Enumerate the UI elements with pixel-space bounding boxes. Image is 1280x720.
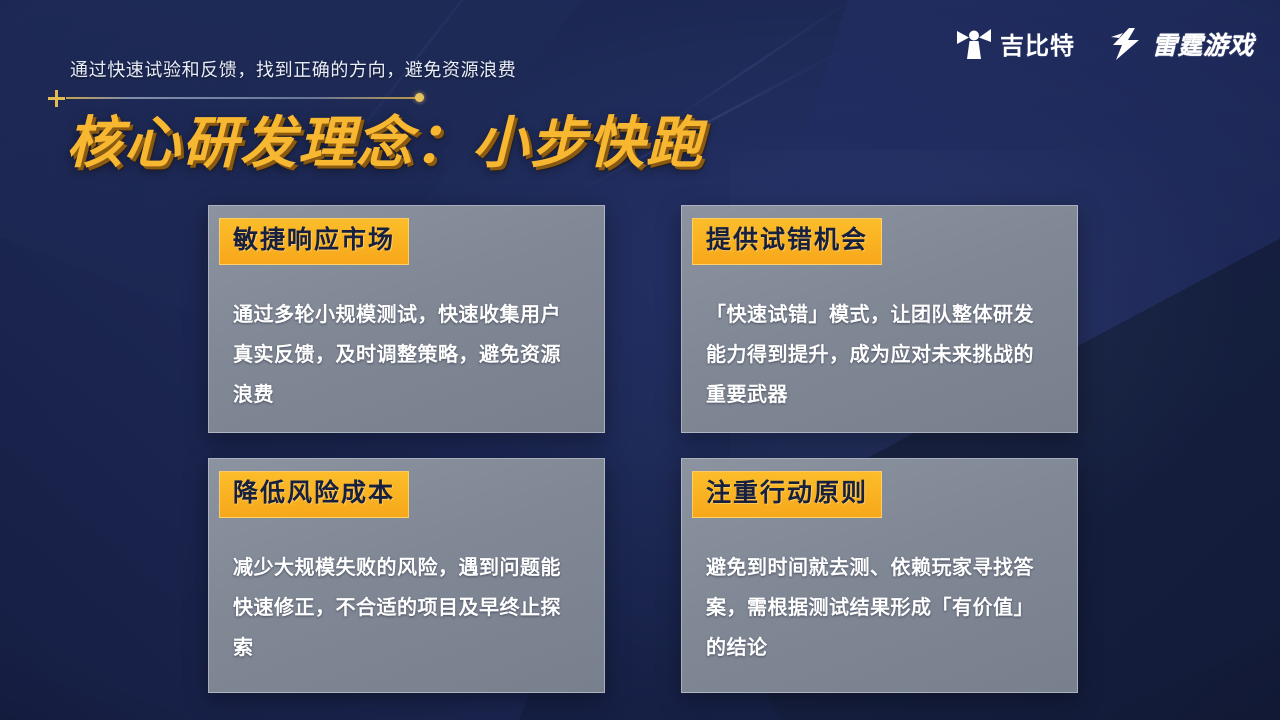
- card-body-text: 避免到时间就去测、依赖玩家寻找答案，需根据测试结果形成「有价值」的结论: [706, 548, 1053, 668]
- card-body-text: 通过多轮小规模测试，快速收集用户真实反馈，及时调整策略，避免资源浪费: [233, 295, 580, 415]
- card-body-text: 减少大规模失败的风险，遇到问题能快速修正，不合适的项目及早终止探索: [233, 548, 580, 668]
- slide-subtitle: 通过快速试验和反馈，找到正确的方向，避免资源浪费: [70, 56, 516, 82]
- card-action-principles: 注重行动原则 避免到时间就去测、依赖玩家寻找答案，需根据测试结果形成「有价值」的…: [681, 458, 1078, 693]
- logo-leiting: 雷霆游戏: [1109, 28, 1254, 65]
- card-heading: 注重行动原则: [692, 471, 882, 518]
- divider-line: [66, 97, 418, 99]
- card-heading: 降低风险成本: [219, 471, 409, 518]
- gibit-angel-icon: [957, 28, 991, 65]
- logo-gibit: 吉比特: [957, 28, 1075, 65]
- logo-gibit-label: 吉比特: [1000, 35, 1075, 59]
- plus-marker-icon: [48, 90, 65, 107]
- divider-end-dot-icon: [415, 93, 424, 102]
- slide-root: 吉比特 雷霆游戏 通过快速试验和反馈，找到正确的方向，避免资源浪费 核心研发理念…: [0, 0, 1280, 720]
- logo-leiting-label: 雷霆游戏: [1152, 34, 1254, 59]
- card-heading: 提供试错机会: [692, 218, 882, 265]
- page-title: 核心研发理念：小步快跑: [66, 112, 704, 175]
- card-heading: 敏捷响应市场: [219, 218, 409, 265]
- logo-bar: 吉比特 雷霆游戏: [957, 28, 1254, 65]
- card-reduce-risk-cost: 降低风险成本 减少大规模失败的风险，遇到问题能快速修正，不合适的项目及早终止探索: [208, 458, 605, 693]
- card-body-text: 「快速试错」模式，让团队整体研发能力得到提升，成为应对未来挑战的重要武器: [706, 295, 1053, 415]
- lightning-bolt-icon: [1109, 28, 1143, 65]
- card-trial-and-error-opportunity: 提供试错机会 「快速试错」模式，让团队整体研发能力得到提升，成为应对未来挑战的重…: [681, 205, 1078, 433]
- title-divider: [46, 88, 434, 108]
- card-grid: 敏捷响应市场 通过多轮小规模测试，快速收集用户真实反馈，及时调整策略，避免资源浪…: [208, 205, 1108, 693]
- card-agile-market-response: 敏捷响应市场 通过多轮小规模测试，快速收集用户真实反馈，及时调整策略，避免资源浪…: [208, 205, 605, 433]
